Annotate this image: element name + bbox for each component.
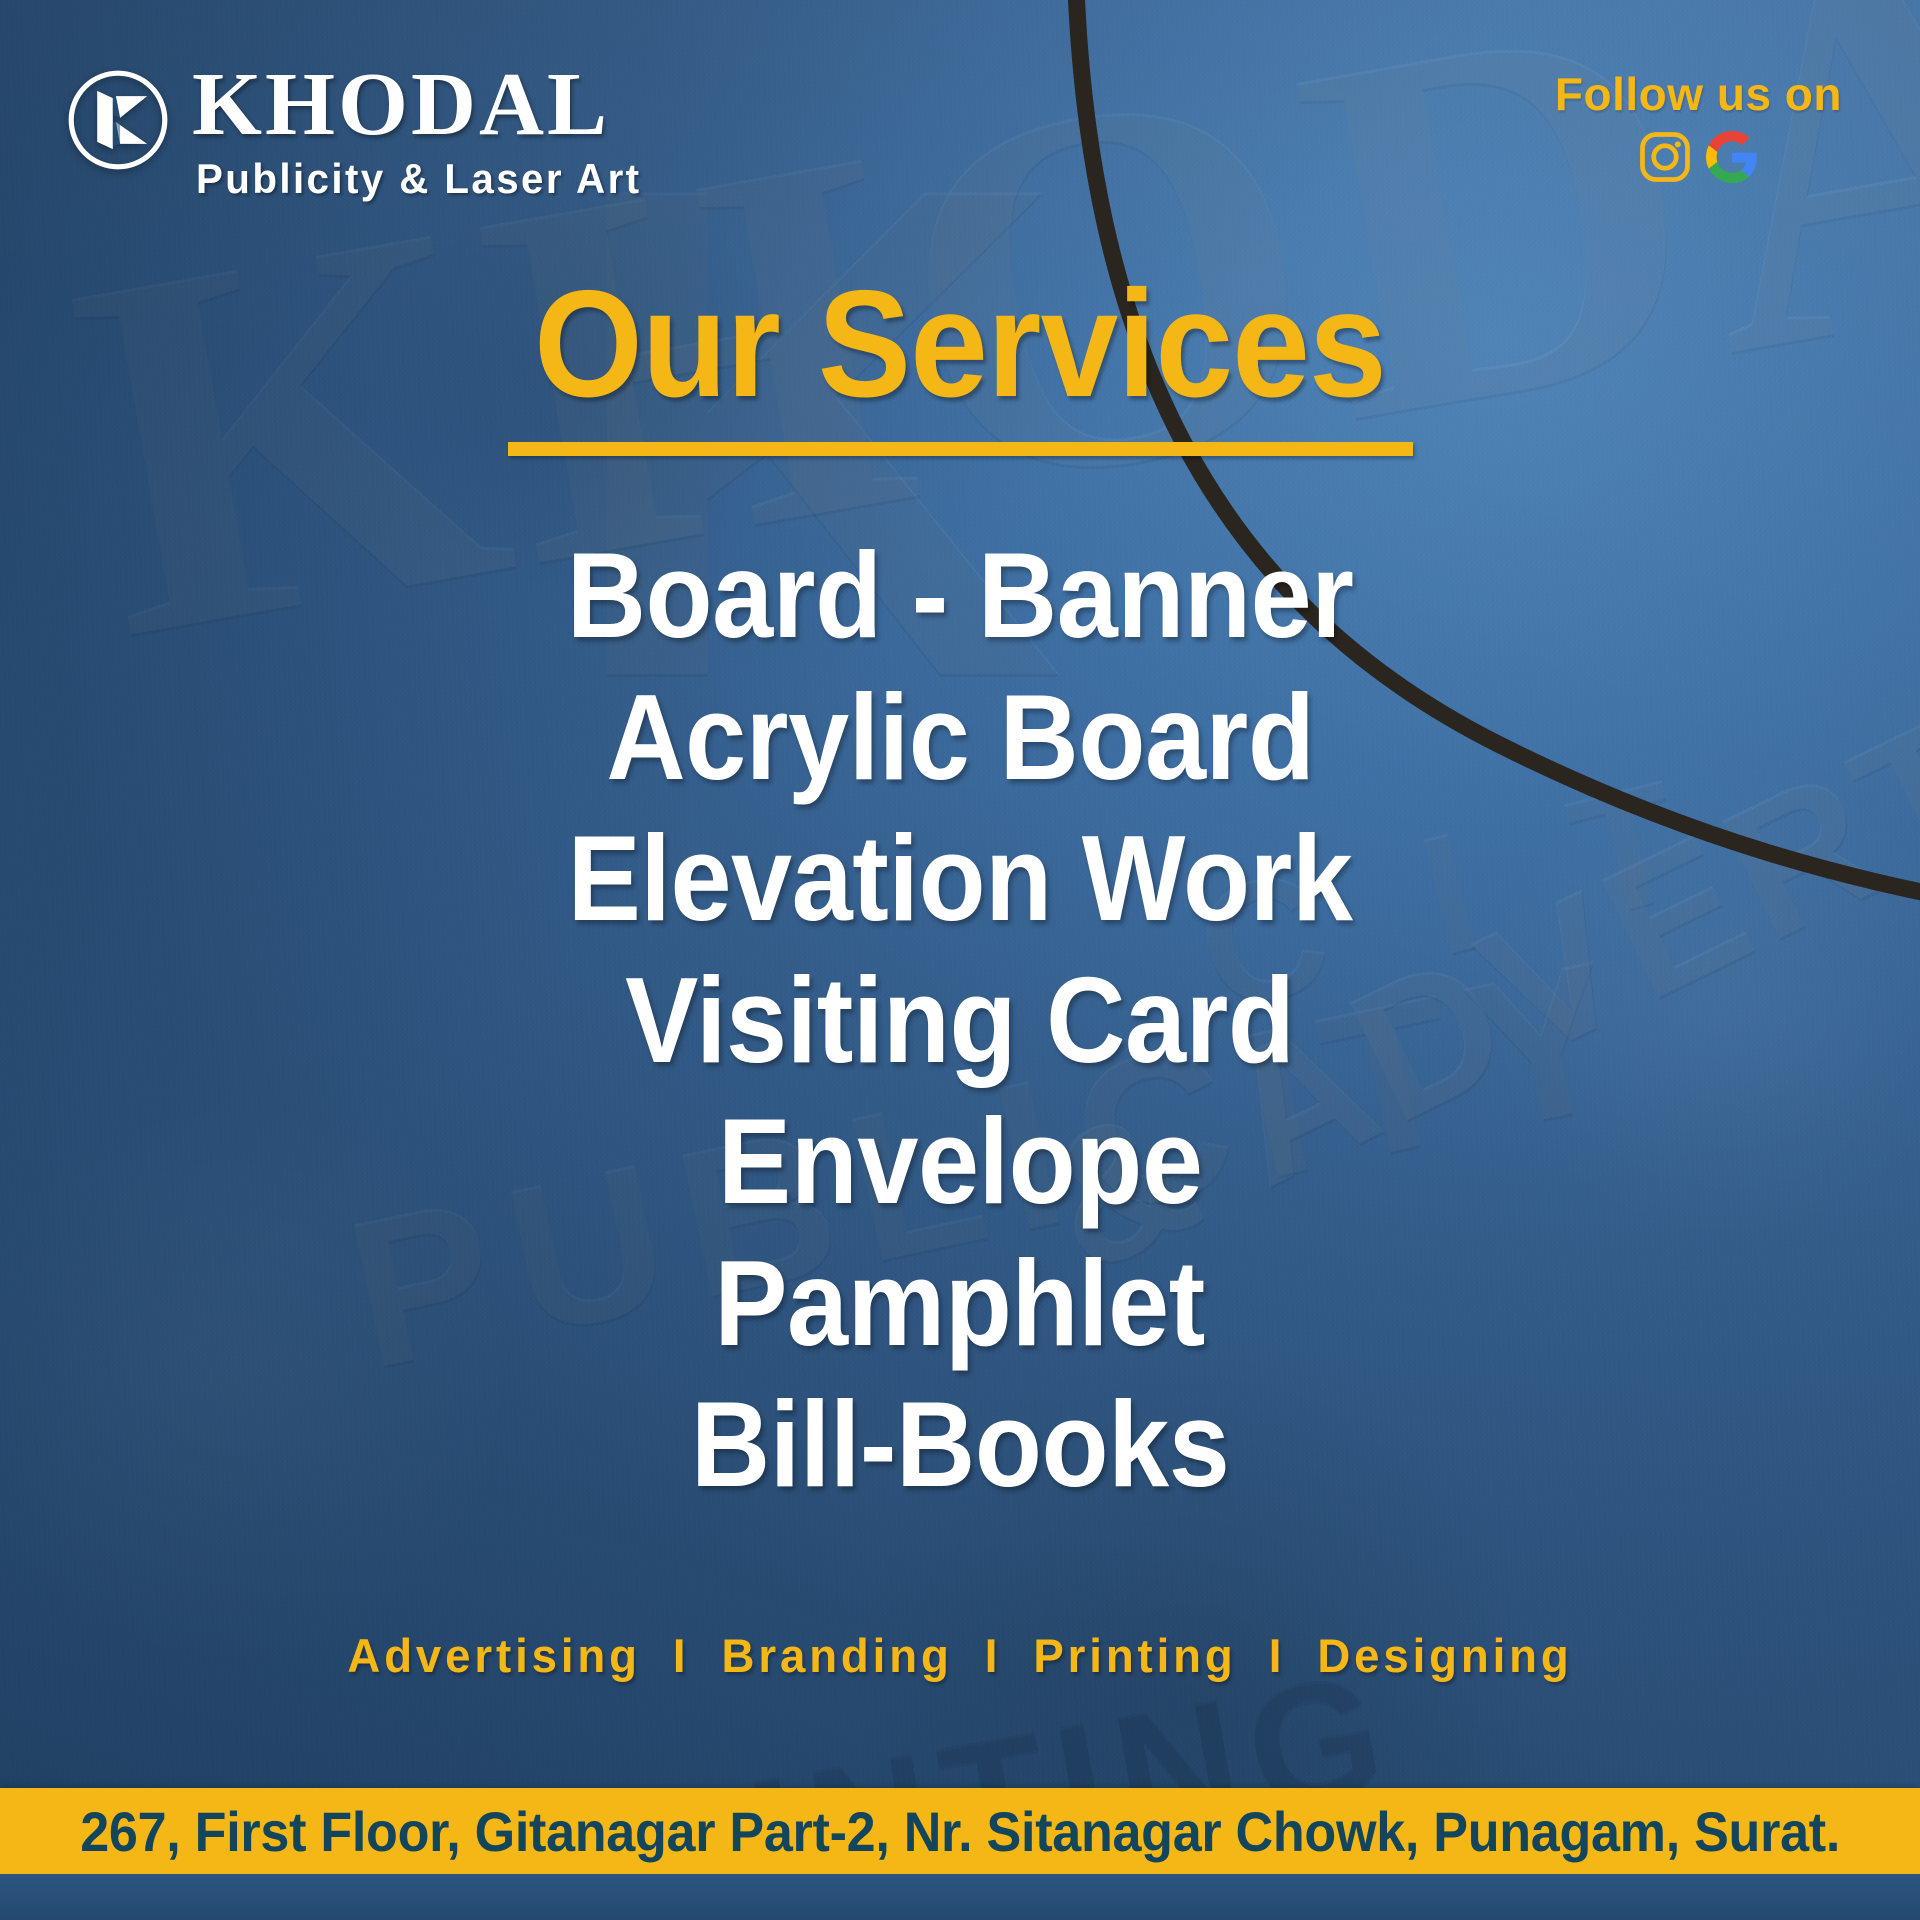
service-item: Pamphlet bbox=[715, 1233, 1206, 1375]
address-text: 267, First Floor, Gitanagar Part-2, Nr. … bbox=[80, 1799, 1840, 1864]
capability-label: Designing bbox=[1317, 1629, 1572, 1682]
service-item: Acrylic Board bbox=[606, 667, 1314, 809]
bottom-strip bbox=[0, 1874, 1920, 1920]
capability-label: Advertising bbox=[347, 1629, 640, 1682]
service-item: Visiting Card bbox=[625, 950, 1294, 1092]
service-item: Bill-Books bbox=[691, 1374, 1229, 1516]
capability-separator: I bbox=[1253, 1629, 1301, 1682]
capabilities-tagline: Advertising I Branding I Printing I Desi… bbox=[29, 1628, 1891, 1683]
follow-us-label: Follow us on bbox=[1555, 70, 1842, 118]
brand-wordmark: KHODAL Publicity & Laser Art bbox=[192, 62, 660, 203]
social-icons bbox=[1638, 130, 1758, 184]
google-g-icon[interactable] bbox=[1706, 131, 1758, 183]
capability-separator: I bbox=[657, 1629, 705, 1682]
page-title: Our Services bbox=[534, 268, 1386, 420]
services-list: Board - Banner Acrylic Board Elevation W… bbox=[0, 525, 1920, 1516]
service-item: Envelope bbox=[718, 1091, 1203, 1233]
service-item: Elevation Work bbox=[568, 808, 1353, 950]
follow-us-block: Follow us on bbox=[1555, 70, 1842, 184]
service-item: Board - Banner bbox=[567, 525, 1354, 667]
brand-logo: KHODAL Publicity & Laser Art bbox=[66, 62, 660, 203]
poster-canvas: K KHODAL PUBLICITY C I T & ADVERTIS PRIN… bbox=[0, 0, 1920, 1920]
capability-label: Printing bbox=[1033, 1629, 1236, 1682]
title-underline bbox=[508, 442, 1413, 456]
capability-label: Branding bbox=[722, 1629, 953, 1682]
khodal-k-emblem-icon bbox=[66, 68, 170, 172]
instagram-icon[interactable] bbox=[1638, 130, 1692, 184]
brand-name: KHODAL bbox=[192, 62, 660, 148]
brand-tagline: Publicity & Laser Art bbox=[196, 156, 642, 202]
capability-separator: I bbox=[969, 1629, 1017, 1682]
address-bar: 267, First Floor, Gitanagar Part-2, Nr. … bbox=[0, 1788, 1920, 1874]
page-title-block: Our Services bbox=[0, 268, 1920, 456]
